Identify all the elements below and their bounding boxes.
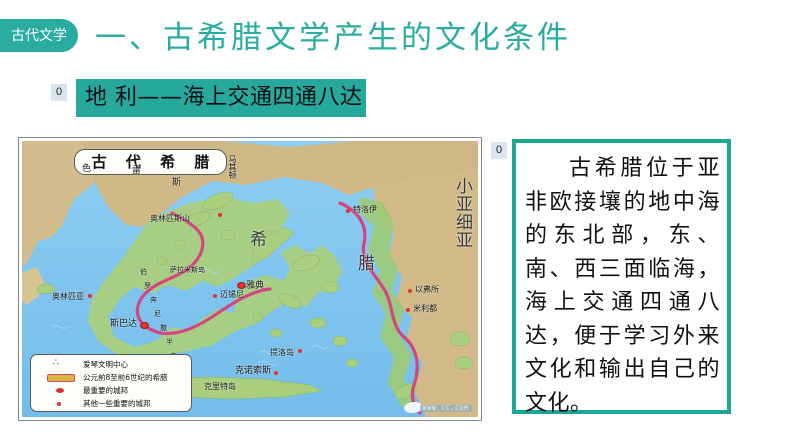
subtitle-text: 地 利——海上交通四通八达: [85, 83, 363, 113]
map-legend: 爱琴文明中心 公元前8至前6世纪的希腊 最重要的城邦 其他一些重要的城邦: [30, 354, 192, 412]
ancient-greece-map-figure: 古 代 希 腊 奥林匹斯山 马其顿 色 雷 斯 特洛伊 希 腊 小亚细亚 奥林匹…: [18, 137, 482, 421]
legend-label: 其他一些重要的城邦: [83, 397, 151, 410]
legend-label: 最重要的城邦: [83, 384, 128, 397]
city-dot-ephesus: [408, 289, 412, 293]
city-dot-athens: [237, 282, 246, 289]
city-dot-olympia: [88, 294, 92, 298]
city-dot-north: [218, 213, 222, 217]
legend-row: 公元前8至前6世纪的希腊: [31, 371, 191, 384]
slide-header: 古代文学 一、古希腊文学产生的文化条件: [0, 19, 790, 57]
city-dot-troy: [346, 209, 350, 213]
legend-row: 其他一些重要的城邦: [31, 397, 191, 410]
other-important-city-state-icon: [47, 400, 73, 408]
slide-canvas: 古代文学 一、古希腊文学产生的文化条件 0 0 地 利——海上交通四通八达: [0, 0, 790, 444]
passage-number-badge: 0: [491, 142, 507, 159]
subtitle-banner: 地 利——海上交通四通八达: [76, 79, 366, 117]
city-dot-miletus: [406, 308, 410, 312]
most-important-city-state-icon: [47, 387, 73, 395]
subtitle-number-badge: 0: [51, 84, 67, 101]
section-tag: 古代文学: [0, 19, 78, 52]
greece-8th-6th-century-bc-icon: [47, 374, 75, 382]
city-dot-sparta: [140, 322, 149, 329]
legend-row: 最重要的城邦: [31, 384, 191, 397]
legend-label: 爱琴文明中心: [83, 358, 128, 371]
map-watermark: WWW.CC.COM: [420, 405, 472, 412]
passage-textbox: 古希腊位于亚非欧接壤的地中海的东北部，东、南、西三面临海，海上交通四通八达，便于…: [512, 139, 731, 414]
city-dot-mycenae: [213, 294, 217, 298]
legend-row: 爱琴文明中心: [31, 358, 191, 371]
city-dot-knossos: [274, 371, 278, 375]
map-title: 古 代 希 腊: [74, 149, 227, 175]
legend-label: 公元前8至前6世纪的希腊: [83, 371, 168, 384]
passage-text: 古希腊位于亚非欧接壤的地中海的东北部，东、南、西三面临海，海上交通四通八达，便于…: [516, 143, 727, 420]
map-image: 古 代 希 腊 奥林匹斯山 马其顿 色 雷 斯 特洛伊 希 腊 小亚细亚 奥林匹…: [22, 141, 478, 417]
city-dot-delos: [298, 349, 302, 353]
aegean-civilization-center-icon: [47, 361, 73, 369]
page-title: 一、古希腊文学产生的文化条件: [95, 16, 571, 60]
